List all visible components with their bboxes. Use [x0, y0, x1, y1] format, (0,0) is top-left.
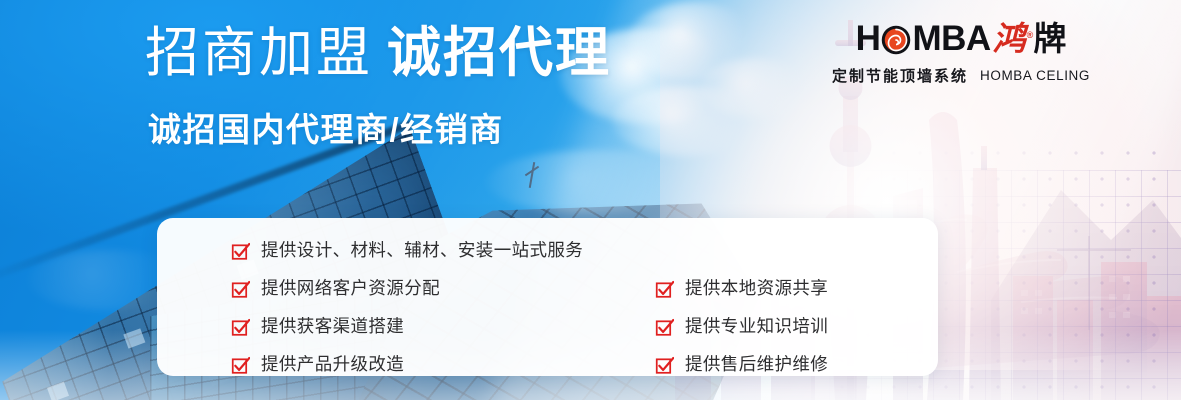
logo-letter-h: H — [856, 21, 881, 56]
benefit-label: 提供设计、材料、辅材、安装一站式服务 — [261, 242, 583, 260]
benefit-label: 提供本地资源共享 — [685, 280, 828, 298]
checkbox-checked-icon — [655, 318, 674, 337]
logo-chinese-name: 鸿®牌 — [993, 22, 1067, 55]
logo-tagline-en: HOMBA CELING — [980, 68, 1090, 83]
benefit-item: 提供专业知识培训 — [655, 308, 955, 346]
logo-wordmark: H MBA 鸿®牌 — [843, 18, 1079, 58]
cloud — [700, 58, 810, 118]
logo-letters-mba: MBA — [912, 21, 990, 56]
logo-spiral-o-icon — [881, 25, 911, 55]
checkbox-checked-icon — [231, 318, 250, 337]
benefit-item: 提供网络客户资源分配 — [231, 270, 651, 308]
headline-primary: 招商加盟 — [145, 23, 373, 83]
checkbox-checked-icon — [231, 280, 250, 299]
benefit-item: 提供本地资源共享 — [655, 270, 955, 308]
benefits-columns: 提供设计、材料、辅材、安装一站式服务 提供网络客户资源分配 提供获客渠道搭建 — [157, 218, 938, 376]
benefit-label: 提供售后维护维修 — [685, 356, 828, 374]
benefit-label: 提供网络客户资源分配 — [261, 280, 440, 298]
benefit-item: 提供获客渠道搭建 — [231, 308, 651, 346]
benefits-right-column: 提供本地资源共享 提供专业知识培训 提供售后维护维修 — [655, 270, 955, 384]
benefit-item: 提供设计、材料、辅材、安装一站式服务 — [231, 232, 651, 270]
benefit-label: 提供产品升级改造 — [261, 356, 404, 374]
subheadline: 诚招国内代理商/经销商 — [148, 103, 504, 151]
promo-banner: 招商加盟诚招代理 诚招国内代理商/经销商 H MBA 鸿®牌 定制节能顶墙系统 … — [0, 0, 1181, 400]
benefit-label: 提供获客渠道搭建 — [261, 318, 404, 336]
benefit-item: 提供售后维护维修 — [655, 346, 955, 384]
checkbox-checked-icon — [655, 356, 674, 375]
benefits-left-column: 提供设计、材料、辅材、安装一站式服务 提供网络客户资源分配 提供获客渠道搭建 — [231, 232, 651, 384]
benefits-card: 提供设计、材料、辅材、安装一站式服务 提供网络客户资源分配 提供获客渠道搭建 — [157, 218, 938, 376]
checkbox-checked-icon — [231, 356, 250, 375]
headline: 招商加盟诚招代理 — [145, 26, 611, 80]
brand-logo: H MBA 鸿®牌 定制节能顶墙系统 HOMBA CELING — [843, 18, 1079, 86]
headline-secondary: 诚招代理 — [387, 23, 611, 83]
logo-hong-character: 鸿 — [993, 20, 1026, 57]
logo-tagline: 定制节能顶墙系统 HOMBA CELING — [843, 65, 1079, 86]
logo-tagline-cn: 定制节能顶墙系统 — [832, 65, 968, 86]
checkbox-checked-icon — [231, 242, 250, 261]
cloud — [486, 150, 706, 214]
logo-pai-character: 牌 — [1033, 20, 1066, 57]
checkbox-checked-icon — [655, 280, 674, 299]
benefit-label: 提供专业知识培训 — [685, 318, 828, 336]
benefit-item: 提供产品升级改造 — [231, 346, 651, 384]
